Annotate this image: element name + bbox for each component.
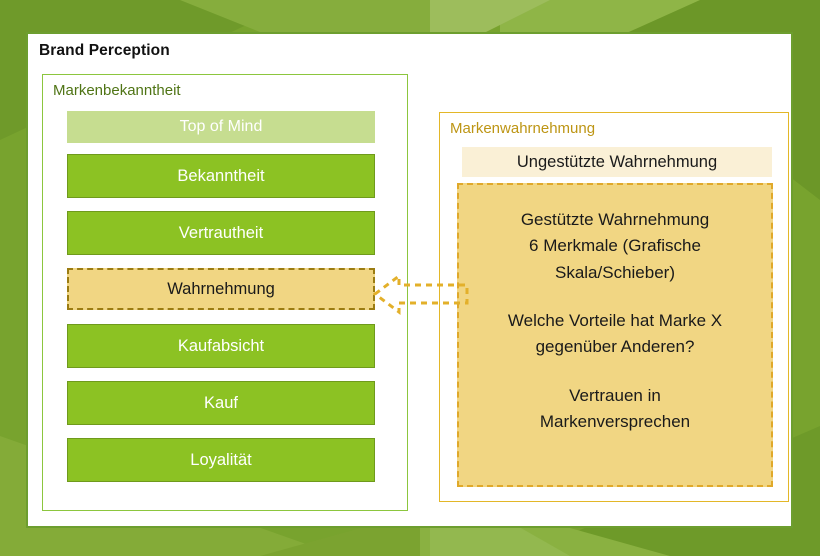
awareness-funnel-list: Top of Mind Bekanntheit Vertrautheit Wah… [67, 111, 375, 495]
funnel-item-vertrautheit[interactable]: Vertrautheit [67, 211, 375, 255]
aided-line: Welche Vorteile hat Marke X [459, 308, 771, 334]
aided-text-spacer [459, 286, 771, 308]
funnel-item-label: Kaufabsicht [178, 337, 264, 356]
panel-markenbekanntheit-label: Markenbekanntheit [53, 82, 181, 99]
funnel-item-wahrnehmung[interactable]: Wahrnehmung [67, 268, 375, 310]
funnel-item-label: Kauf [204, 394, 238, 413]
aided-perception-box[interactable]: Gestützte Wahrnehmung 6 Merkmale (Grafis… [457, 183, 773, 487]
aided-text-spacer [459, 361, 771, 383]
aided-line: Vertrauen in [459, 383, 771, 409]
panel-markenwahrnehmung: Markenwahrnehmung Ungestützte Wahrnehmun… [439, 112, 789, 502]
left-pointing-arrow-icon [373, 266, 469, 322]
funnel-item-kauf[interactable]: Kauf [67, 381, 375, 425]
page-title: Brand Perception [39, 42, 170, 60]
slide-canvas: Brand Perception Markenbekanntheit Top o… [0, 0, 820, 556]
funnel-item-label: Bekanntheit [177, 167, 264, 186]
funnel-item-top-of-mind[interactable]: Top of Mind [67, 111, 375, 143]
aided-line: Markenversprechen [459, 409, 771, 435]
funnel-item-label: Wahrnehmung [167, 280, 275, 299]
funnel-item-label: Loyalität [190, 451, 251, 470]
unaided-perception-box[interactable]: Ungestützte Wahrnehmung [462, 147, 772, 177]
funnel-item-kaufabsicht[interactable]: Kaufabsicht [67, 324, 375, 368]
funnel-item-loyalitaet[interactable]: Loyalität [67, 438, 375, 482]
funnel-item-label: Vertrautheit [179, 224, 263, 243]
funnel-item-bekanntheit[interactable]: Bekanntheit [67, 154, 375, 198]
panel-markenbekanntheit: Markenbekanntheit Top of Mind Bekannthei… [42, 74, 408, 511]
aided-line: Skala/Schieber) [459, 260, 771, 286]
aided-line: 6 Merkmale (Grafische [459, 233, 771, 259]
panel-markenwahrnehmung-label: Markenwahrnehmung [450, 120, 595, 137]
unaided-perception-label: Ungestützte Wahrnehmung [517, 153, 717, 172]
funnel-item-label: Top of Mind [180, 118, 263, 136]
aided-line: gegenüber Anderen? [459, 334, 771, 360]
aided-line: Gestützte Wahrnehmung [459, 207, 771, 233]
